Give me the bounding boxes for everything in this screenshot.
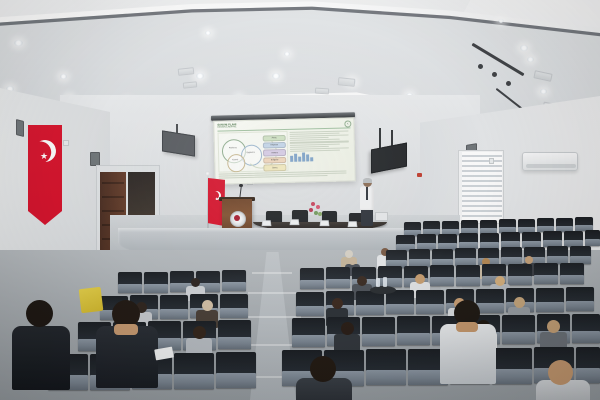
wall-plate — [63, 140, 69, 146]
slide-circular-diagram: Planlama Uygulama Kontrol Amac Kapsam Yo… — [218, 130, 289, 172]
downlight — [60, 74, 67, 79]
downlight — [196, 73, 204, 79]
seat[interactable] — [416, 290, 444, 314]
seat[interactable] — [570, 246, 591, 264]
downlight — [284, 52, 290, 56]
seat[interactable] — [174, 353, 214, 389]
seat[interactable] — [220, 294, 248, 318]
seat[interactable] — [118, 272, 142, 293]
downlight — [527, 57, 534, 62]
microphone-icon — [239, 184, 243, 187]
flower-arrangement — [307, 202, 323, 222]
water-bottle — [383, 277, 387, 287]
air-conditioner-unit — [522, 152, 578, 171]
seat[interactable] — [492, 348, 532, 384]
seat[interactable] — [296, 292, 324, 316]
seat[interactable] — [501, 232, 520, 248]
table-nameplate — [262, 220, 272, 226]
seat[interactable] — [455, 248, 476, 266]
downlight — [272, 73, 280, 79]
track-light-head — [506, 81, 511, 86]
presenter-legs — [361, 209, 373, 226]
seat[interactable] — [386, 290, 414, 314]
seat[interactable] — [476, 289, 504, 313]
slide-pill: Kapsam — [263, 142, 286, 149]
seat[interactable] — [326, 267, 350, 288]
seat[interactable] — [534, 263, 558, 284]
seat[interactable] — [502, 315, 535, 344]
downlight — [520, 45, 528, 51]
aisle-step — [248, 292, 296, 294]
wall-speaker-center — [90, 152, 100, 166]
seat[interactable] — [397, 316, 430, 345]
seat[interactable] — [501, 247, 522, 265]
presentation-slide: SUNUM PLANI DEGERLENDIRME Planlama Uygul… — [214, 118, 354, 183]
monitor-mount-pole — [379, 128, 381, 148]
diagram-ring-3-label: Kontrol — [228, 159, 242, 161]
seat[interactable] — [409, 249, 430, 267]
flag-pole-finial — [205, 171, 210, 176]
ceiling-vent — [315, 88, 329, 95]
seat[interactable] — [556, 218, 573, 232]
seat[interactable] — [537, 218, 554, 232]
downlight — [205, 31, 211, 35]
seat[interactable] — [430, 265, 454, 286]
slide-pill: Bulgular — [263, 157, 286, 164]
table-nameplate — [320, 220, 330, 226]
seat[interactable] — [547, 246, 568, 264]
slide-bar-chart — [290, 152, 351, 162]
downlight — [498, 19, 504, 23]
seat[interactable] — [362, 317, 395, 346]
wall-plate — [489, 158, 494, 164]
slide-pill: Sonuc — [263, 164, 286, 171]
seat[interactable] — [356, 291, 384, 315]
yellow-bag — [79, 287, 104, 314]
seat[interactable] — [543, 231, 562, 247]
diagram-ring-3 — [227, 153, 245, 171]
seat[interactable] — [144, 272, 168, 293]
ceiling-vent — [338, 77, 356, 87]
downlight — [540, 89, 547, 94]
seat[interactable] — [216, 352, 256, 388]
seat[interactable] — [218, 320, 251, 349]
seat[interactable] — [378, 266, 402, 287]
downlight — [14, 40, 23, 46]
seat[interactable] — [518, 219, 535, 233]
seat[interactable] — [423, 221, 440, 235]
seat[interactable] — [564, 231, 583, 247]
presenter-laptop — [375, 212, 388, 221]
seat[interactable] — [572, 314, 600, 343]
presenter-hair — [363, 178, 372, 183]
seat[interactable] — [417, 234, 436, 250]
seat[interactable] — [456, 265, 480, 286]
track-light-head — [478, 64, 483, 69]
seat[interactable] — [566, 287, 594, 311]
window-blinds[interactable] — [462, 152, 502, 220]
air-conditioner-vent — [526, 164, 576, 168]
aisle-step — [252, 272, 292, 274]
side-table — [370, 286, 396, 294]
seat[interactable] — [576, 347, 600, 383]
seat[interactable] — [560, 263, 584, 284]
projection-screen: SUNUM PLANI DEGERLENDIRME Planlama Uygul… — [213, 117, 356, 184]
wall-speaker-left — [16, 119, 24, 137]
slide-pill: Amac — [263, 134, 286, 141]
podium-emblem-center — [234, 215, 240, 221]
slide-text-column — [289, 129, 351, 170]
seat[interactable] — [366, 349, 406, 385]
seat[interactable] — [536, 288, 564, 312]
seat[interactable] — [160, 295, 188, 319]
table-nameplate — [290, 219, 300, 225]
seat[interactable] — [499, 219, 516, 233]
star-icon: ★ — [40, 152, 48, 160]
seat[interactable] — [585, 230, 600, 246]
seat[interactable] — [480, 233, 499, 249]
water-bottle — [376, 278, 380, 287]
seat[interactable] — [300, 268, 324, 289]
seat[interactable] — [459, 233, 478, 249]
seat[interactable] — [292, 318, 325, 347]
seat[interactable] — [522, 232, 541, 248]
seat[interactable] — [461, 220, 478, 234]
exit-sign — [417, 173, 422, 177]
seat[interactable] — [442, 221, 459, 235]
presenter-tie — [366, 187, 368, 200]
seat[interactable] — [508, 264, 532, 285]
seat[interactable] — [438, 234, 457, 250]
seat[interactable] — [222, 270, 246, 291]
auditorium-photo: ★ SUNUM PLANI DEGERLENDIRME Planlama — [0, 0, 600, 400]
track-light-head — [492, 72, 497, 77]
table-nameplate — [348, 221, 358, 227]
seat[interactable] — [575, 217, 593, 231]
slide-pill: Yontem — [263, 149, 286, 156]
presenter — [358, 178, 376, 226]
seat[interactable] — [480, 220, 497, 234]
